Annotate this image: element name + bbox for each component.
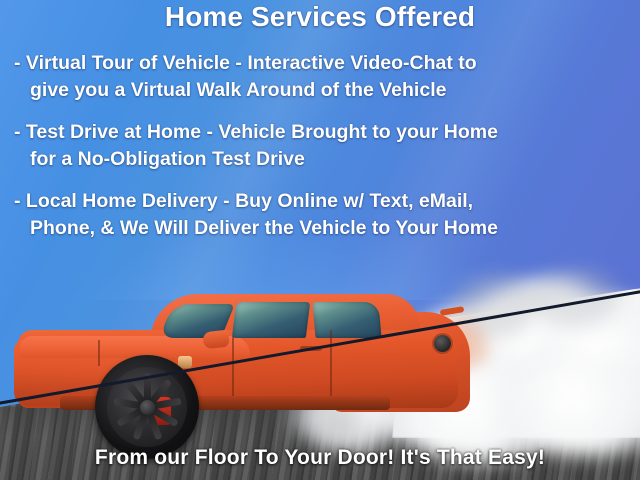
front-rim (107, 367, 187, 447)
list-item: - Test Drive at Home - Vehicle Brought t… (0, 119, 640, 173)
front-door-window (232, 302, 310, 338)
door-seam (232, 336, 234, 402)
bullet-line-1: - Virtual Tour of Vehicle - Interactive … (14, 50, 626, 77)
services-list: - Virtual Tour of Vehicle - Interactive … (0, 50, 640, 257)
bullet-line-1: - Local Home Delivery - Buy Online w/ Te… (14, 188, 626, 215)
rear-spoiler (440, 306, 465, 316)
hood-seam (98, 340, 100, 366)
side-mirror (202, 330, 230, 350)
bullet-line-2: give you a Virtual Walk Around of the Ve… (14, 77, 626, 104)
bullet-line-1: - Test Drive at Home - Vehicle Brought t… (14, 119, 626, 146)
bullet-line-2: Phone, & We Will Deliver the Vehicle to … (14, 215, 626, 242)
rear-quarter-window (312, 302, 381, 338)
tagline: From our Floor To Your Door! It's That E… (0, 446, 640, 470)
rear-panel-seam (330, 330, 332, 402)
bullet-line-2: for a No-Obligation Test Drive (14, 146, 626, 173)
list-item: - Virtual Tour of Vehicle - Interactive … (0, 50, 640, 104)
home-services-offered-banner: Home Services Offered - Virtual Tour of … (0, 0, 640, 480)
fuel-cap (434, 335, 451, 352)
front-wheel (95, 355, 199, 459)
door-handle (300, 346, 322, 351)
wheel-hub (140, 400, 155, 415)
list-item: - Local Home Delivery - Buy Online w/ Te… (0, 188, 640, 242)
page-title: Home Services Offered (0, 1, 640, 33)
